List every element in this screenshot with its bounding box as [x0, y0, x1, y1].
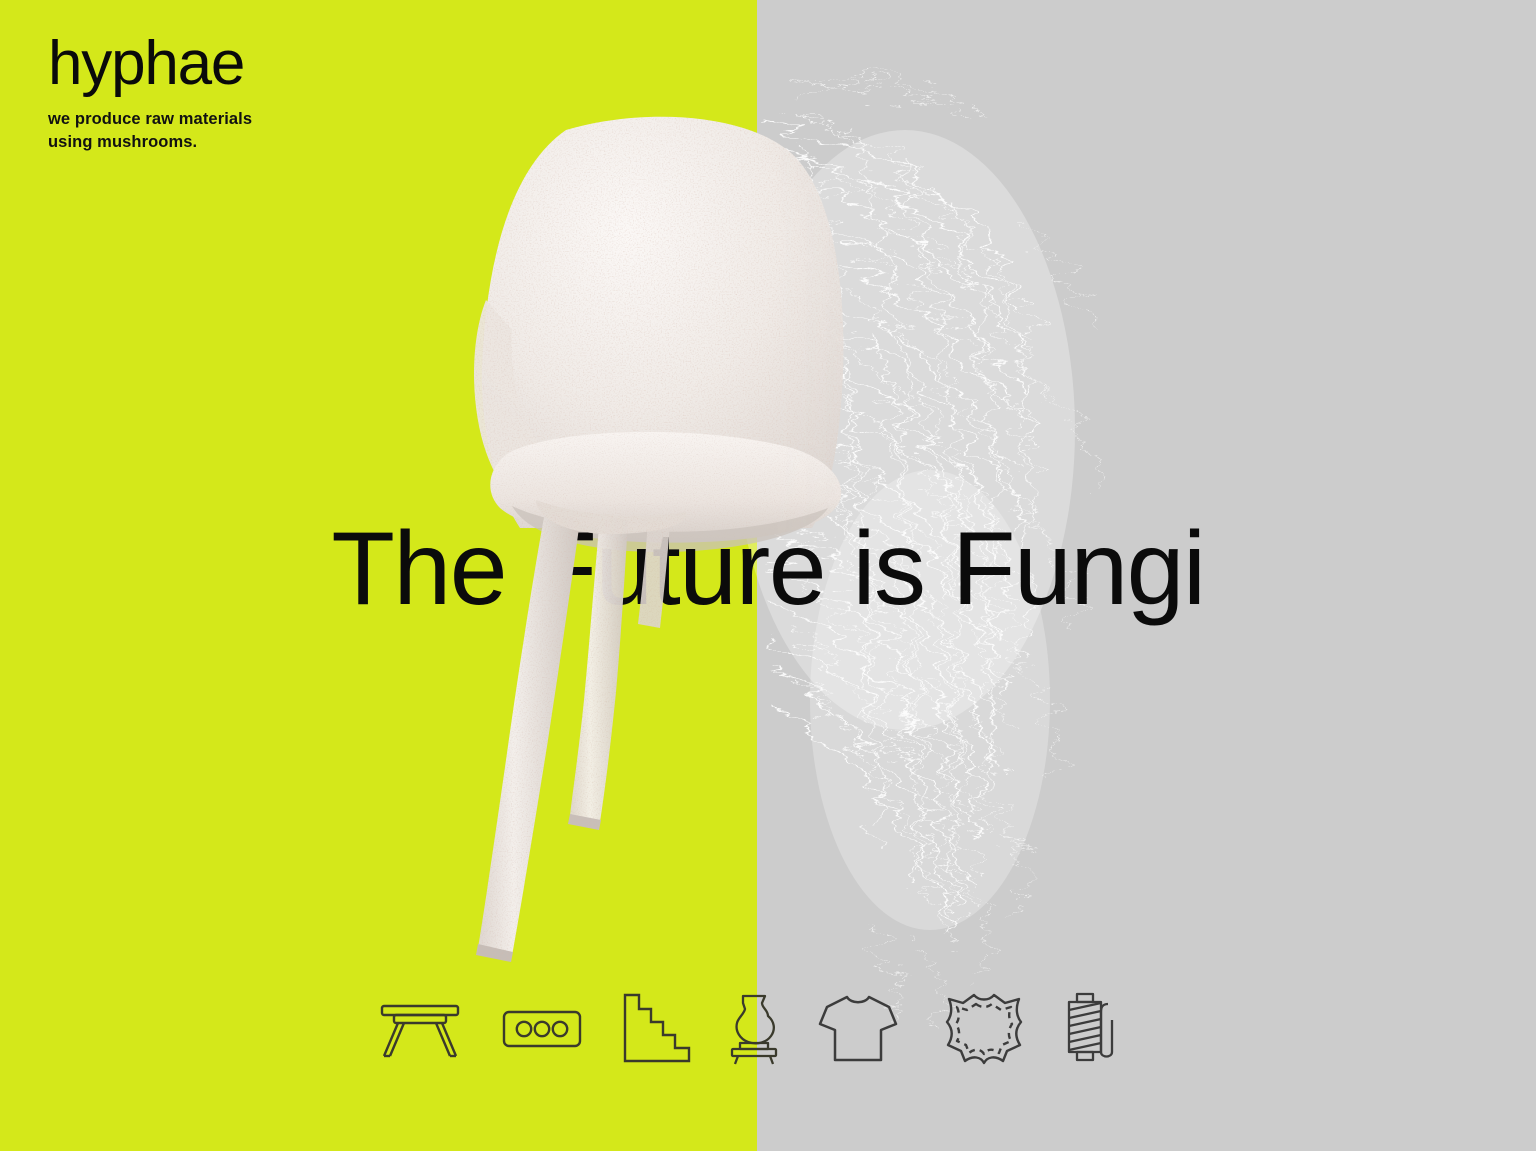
- poster-canvas: The Future is Fungi: [0, 0, 1536, 1151]
- product-icon-strip: [0, 978, 1536, 1078]
- icon-cell-stairs[interactable]: [612, 978, 702, 1078]
- tshirt-icon: [815, 991, 901, 1065]
- icon-cell-tshirt[interactable]: [812, 978, 904, 1078]
- icon-cell-thread[interactable]: [1054, 978, 1134, 1078]
- icon-cell-table[interactable]: [372, 978, 468, 1078]
- stairs-icon: [617, 991, 697, 1065]
- leather-icon: [941, 991, 1027, 1065]
- icon-cell-leather[interactable]: [938, 978, 1030, 1078]
- brand-tagline-line-1: we produce raw materials: [48, 108, 252, 131]
- icon-cell-brick[interactable]: [497, 978, 587, 1078]
- brand-logo[interactable]: hyphae: [48, 34, 252, 95]
- thread-spool-icon: [1058, 990, 1130, 1066]
- brand-block: hyphae we produce raw materials using mu…: [48, 34, 252, 155]
- icon-cell-pottery[interactable]: [712, 978, 796, 1078]
- brick-icon: [500, 1002, 584, 1054]
- brand-tagline: we produce raw materials using mushrooms…: [48, 108, 252, 155]
- page-headline: The Future is Fungi: [0, 517, 1536, 621]
- brand-tagline-line-2: using mushrooms.: [48, 131, 252, 154]
- table-icon: [376, 992, 464, 1064]
- pottery-icon: [716, 990, 792, 1066]
